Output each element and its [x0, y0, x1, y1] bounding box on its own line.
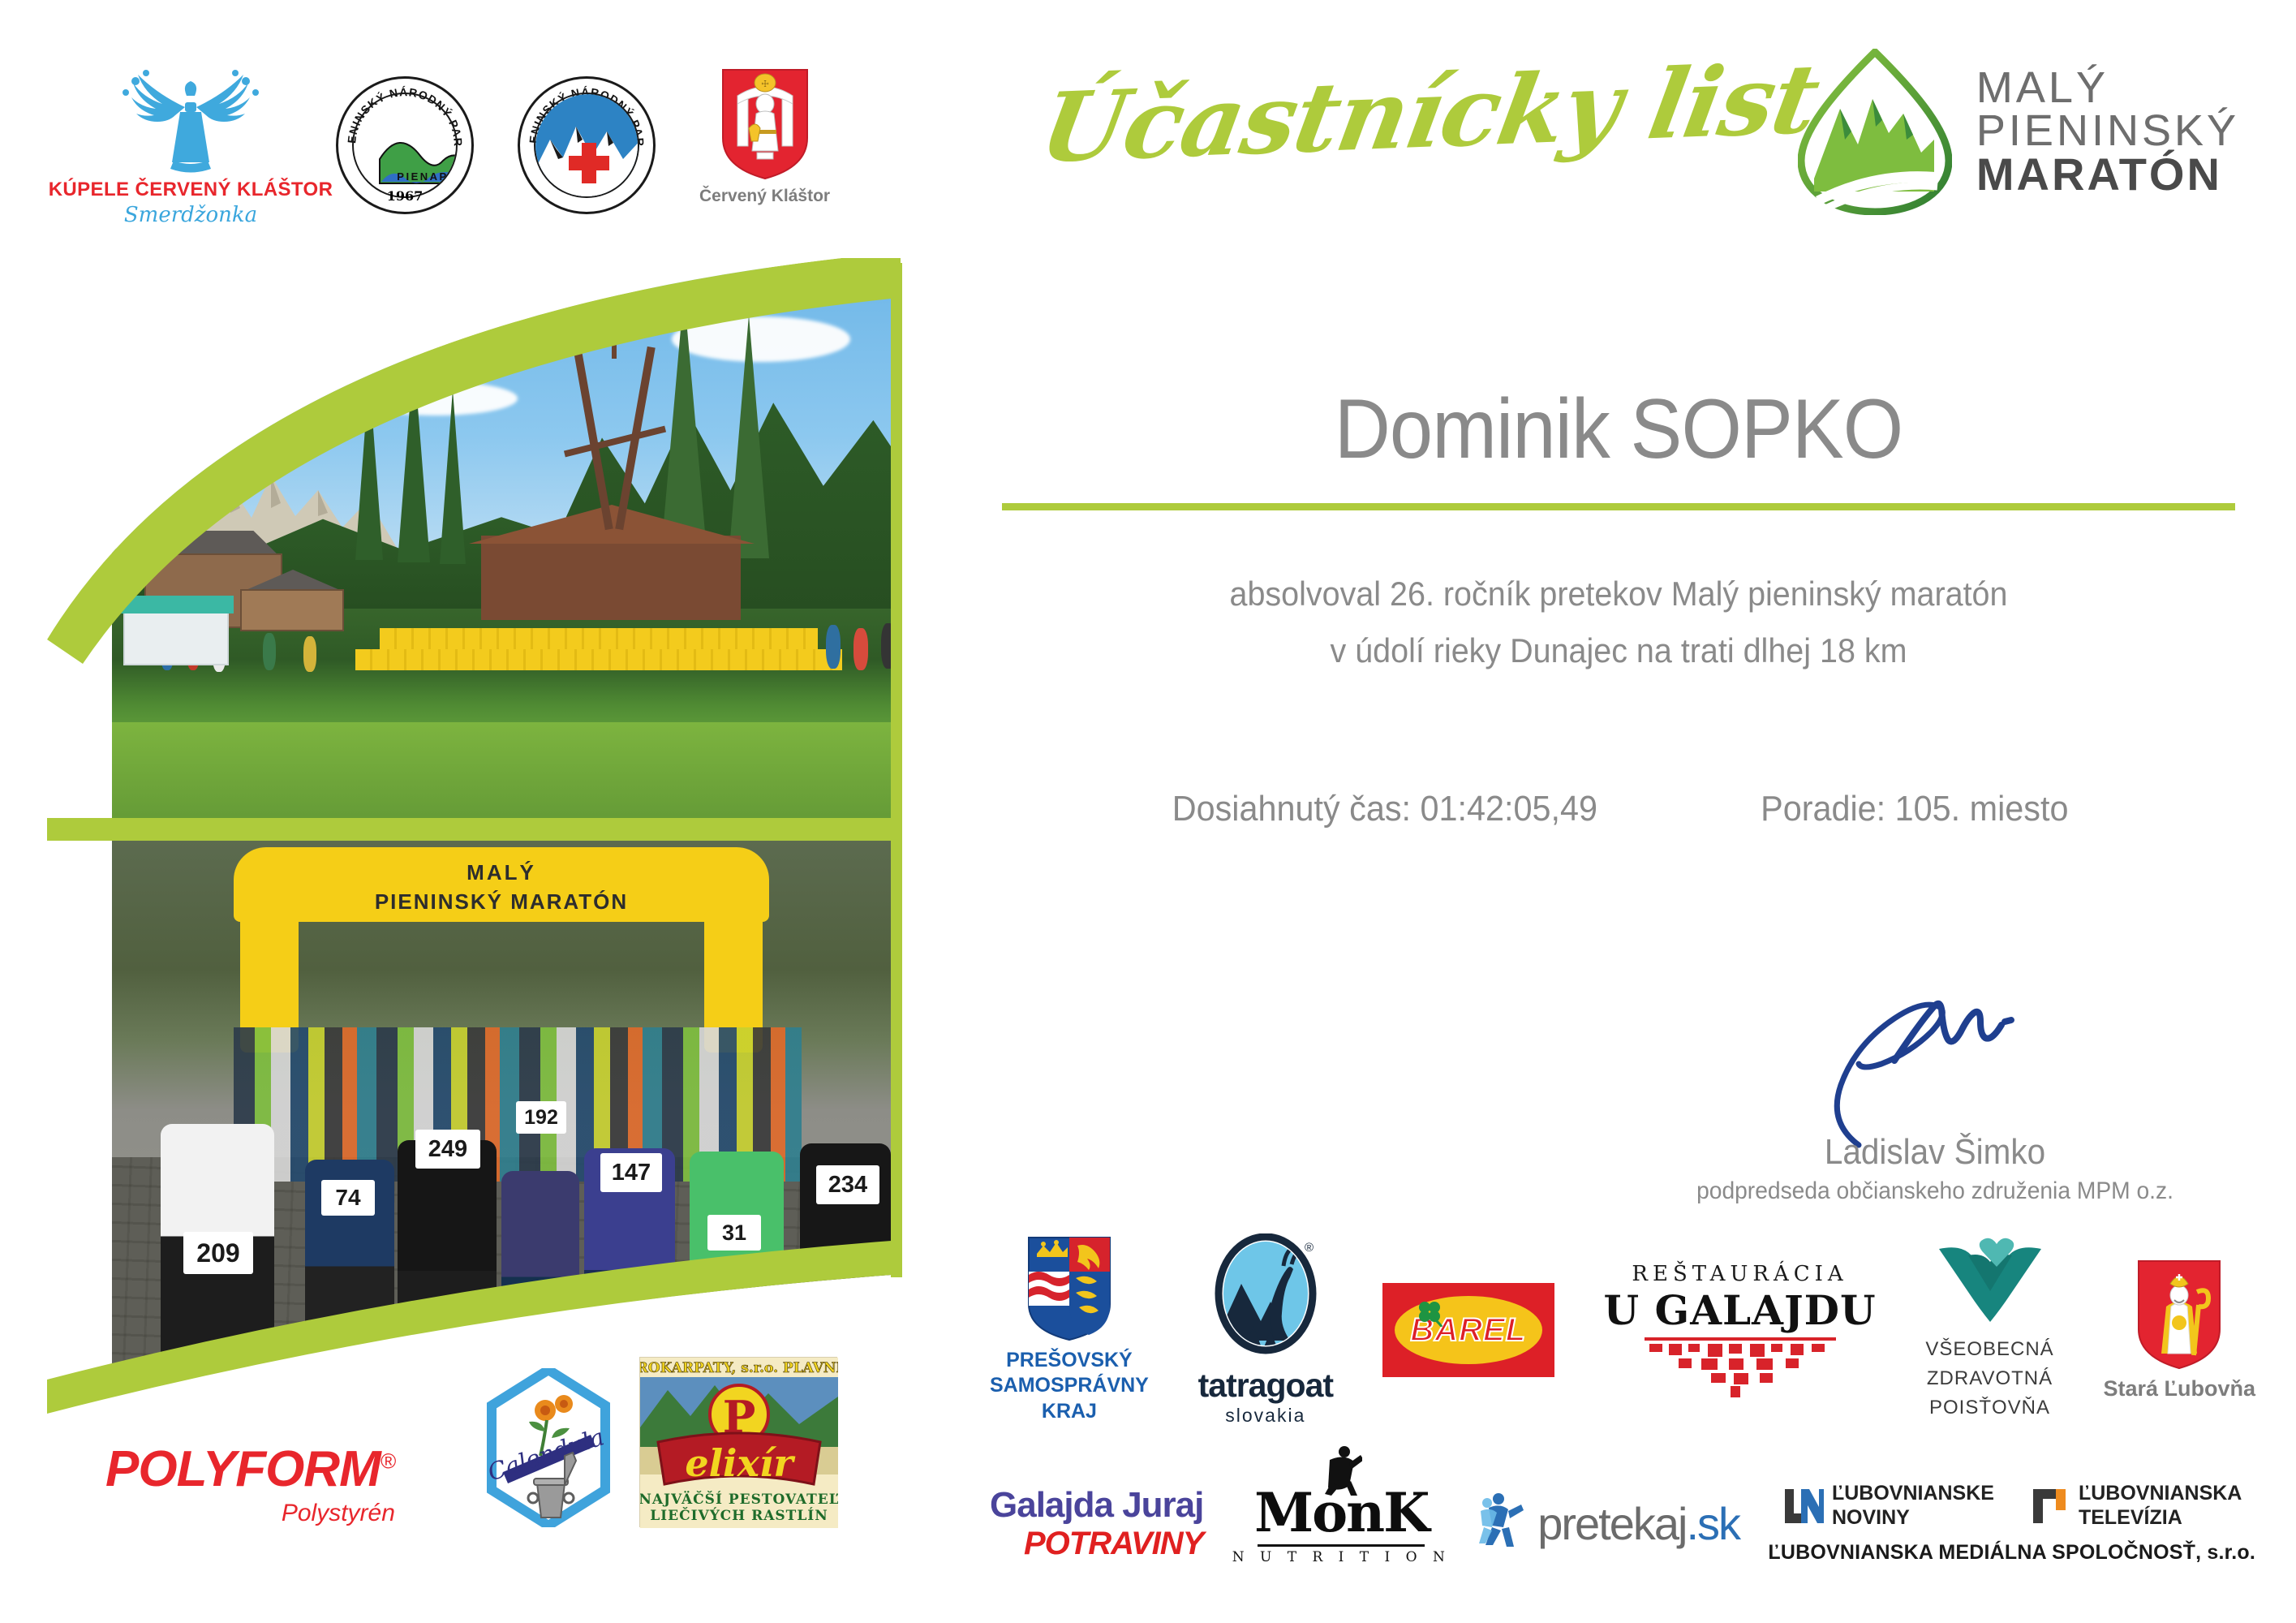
pretekaj-name: pretekaj	[1537, 1498, 1686, 1549]
lms-company-name: ĽUBOVNIANSKA MEDIÁLNA SPOLOČNOSŤ, s.r.o.	[1768, 1541, 2255, 1565]
sponsor-galajda-juraj: Galajda Juraj POTRAVINY	[990, 1485, 1203, 1562]
tatragoat-sub: slovakia	[1225, 1405, 1305, 1427]
photo-clip: MALÝ PIENINSKÝ MARATÓN 209 74 249 192 14…	[47, 258, 923, 1427]
sponsor-lubovnianska-medialna: ĽUBOVNIANSKE NOVINY ĽUBOVNIANSKA TELEVÍZ…	[1768, 1482, 2255, 1565]
galajdu-line-2: U GALAJDU	[1604, 1286, 1877, 1334]
photo-race-start: MALÝ PIENINSKÝ MARATÓN 209 74 249 192 14…	[112, 841, 923, 1427]
bib-number: 234	[816, 1165, 879, 1204]
sponsor-polyform: POLYFORM® Polystyrén	[105, 1440, 395, 1527]
horska-sluzba-inner	[534, 93, 639, 198]
agrokarpaty-elixir-icon: AGROKARPATY, s.r.o. PLAVNICA P elixír NA…	[640, 1358, 838, 1528]
bib-number: 249	[415, 1130, 480, 1169]
cerveny-klastor-name: Červený Kláštor	[699, 187, 830, 206]
runner-249	[398, 1140, 497, 1392]
lms-brands-row: ĽUBOVNIANSKE NOVINY ĽUBOVNIANSKA TELEVÍZ…	[1782, 1482, 2242, 1530]
running-monk-icon	[1320, 1445, 1362, 1496]
vszp-line-3: POISŤOVŇA	[1925, 1393, 2053, 1423]
ln-line-2: NOVINY	[1832, 1506, 1994, 1530]
mpm-wordmark: MALÝ PIENINSKÝ MARATÓN	[1976, 67, 2239, 197]
sponsor-pretekaj-sk: pretekaj.sk	[1479, 1492, 1739, 1555]
folk-ornament-icon	[1643, 1342, 1838, 1399]
runner-31	[690, 1152, 784, 1392]
sponsor-agrokarpaty-elixir: AGROKARPATY, s.r.o. PLAVNICA P elixír NA…	[639, 1357, 837, 1527]
placement: Poradie: 105. miesto	[1761, 789, 2068, 829]
pretekaj-wordmark: pretekaj.sk	[1537, 1497, 1739, 1550]
accent-rule	[1002, 503, 2235, 510]
vszp-line-2: ZDRAVOTNÁ	[1925, 1364, 2053, 1393]
kupele-line1: KÚPELE ČERVENÝ KLÁŠTOR	[49, 179, 333, 201]
horska-sluzba-seal-icon: PIENINSKÝ NÁRODNÝ PARK HORSKÁ SLUŽBA	[518, 76, 656, 214]
galajdu-divider	[1645, 1337, 1836, 1341]
signatory-role: podpredseda občianskeho združenia MPM o.…	[1653, 1177, 2217, 1205]
vszp-line-1: VŠEOBECNÁ	[1925, 1335, 2053, 1364]
stara-lubovna-name: Stará Ľubovňa	[2103, 1376, 2255, 1401]
result-stats: Dosiahnutý čas: 01:42:05,49 Poradie: 105…	[1002, 789, 2235, 829]
photo-venue-amphitheatre	[112, 268, 923, 828]
handwritten-signature-icon	[1781, 986, 2057, 1156]
page-title: Účastnícky list	[1031, 36, 1790, 193]
registered-mark-icon: ®	[381, 1449, 395, 1473]
ltv-line-2: TELEVÍZIA	[2079, 1506, 2242, 1530]
lawn	[112, 722, 923, 828]
sponsor-row-2: Galajda Juraj POTRAVINY MonK N U T R I T…	[990, 1481, 2255, 1565]
sponsor-presovsky-samospravny-kraj: PREŠOVSKÝ SAMOSPRÁVNY KRAJ	[990, 1236, 1149, 1424]
svg-text:PIENAP: PIENAP	[397, 170, 448, 183]
ln-label: ĽUBOVNIANSKE NOVINY	[1832, 1482, 1994, 1530]
partner-logo-pienap: PIENINSKÝ NÁRODNÝ PARK PIENAP 1967	[336, 76, 474, 214]
sponsor-barel: BAREL	[1382, 1283, 1554, 1377]
vszp-label: VŠEOBECNÁ ZDRAVOTNÁ POISŤOVŇA	[1925, 1335, 2053, 1423]
race-start-scene: MALÝ PIENINSKÝ MARATÓN 209 74 249 192 14…	[112, 841, 923, 1427]
presov-region-coat-of-arms-icon	[1027, 1236, 1111, 1341]
ln-line-1: ĽUBOVNIANSKE	[1832, 1482, 1994, 1506]
psk-line-3: KRAJ	[990, 1399, 1149, 1424]
pienap-seal-icon: PIENINSKÝ NÁRODNÝ PARK PIENAP 1967	[336, 76, 474, 214]
tatragoat-chamois-icon: ®	[1214, 1233, 1318, 1363]
svg-text:☩: ☩	[761, 79, 769, 89]
mountain-redcross-icon	[535, 94, 639, 198]
registered-mark-icon: ®	[1305, 1241, 1314, 1255]
monk-sub: N U T R I T I O N	[1232, 1549, 1451, 1565]
lubovnianska-televizia: ĽUBOVNIANSKA TELEVÍZIA	[2028, 1482, 2242, 1530]
psk-label: PREŠOVSKÝ SAMOSPRÁVNY KRAJ	[990, 1348, 1149, 1424]
two-runners-icon	[1479, 1492, 1529, 1555]
sponsor-vszp: VŠEOBECNÁ ZDRAVOTNÁ POISŤOVŇA	[1925, 1238, 2053, 1423]
top-partner-logos: KÚPELE ČERVENÝ KLÁŠTOR Smerdžonka PIENIN…	[89, 57, 949, 243]
ltv-line-1: ĽUBOVNIANSKA	[2079, 1482, 2242, 1506]
body-line-2: v údolí rieky Dunajec na trati dlhej 18 …	[1039, 631, 2199, 670]
arch-text-line1: MALÝ	[234, 860, 769, 885]
polyform-sub: Polystyrén	[105, 1500, 395, 1527]
sponsor-row-bottom-left: Calendula AGROKARPATY, s.r.o. PLAVNICA	[487, 1357, 837, 1527]
polyform-wordmark: POLYFORM®	[105, 1440, 395, 1498]
bib-number: 31	[707, 1215, 761, 1251]
partner-logo-kupele-cerveny-klastor: KÚPELE ČERVENÝ KLÁŠTOR Smerdžonka	[89, 57, 292, 227]
vszp-heart-chevron-icon	[1936, 1238, 2044, 1327]
partner-logo-horska-sluzba: PIENINSKÝ NÁRODNÝ PARK HORSKÁ SLUŽBA	[518, 76, 656, 214]
bib-number: 209	[183, 1232, 253, 1274]
ltv-logo-icon	[2028, 1486, 2070, 1526]
stara-lubovna-coat-of-arms-icon	[2137, 1259, 2221, 1370]
psk-line-2: SAMOSPRÁVNY	[990, 1373, 1149, 1398]
mpm-line-3: MARATÓN	[1976, 153, 2239, 197]
ln-logo-icon	[1782, 1486, 1824, 1526]
bib-number: 74	[321, 1180, 375, 1216]
pienap-inner-ring: PIENAP	[352, 93, 458, 198]
body-line-1: absolvoval 26. ročník pretekov Malý pien…	[1039, 575, 2199, 613]
galajda-line-2: POTRAVINY	[1024, 1526, 1203, 1562]
sponsor-tatragoat: ® tatragoat slovakia	[1198, 1233, 1333, 1427]
signatory-name: Ladislav Šimko	[1659, 1132, 2212, 1173]
sponsor-stara-lubovna: Stará Ľubovňa	[2103, 1259, 2255, 1401]
bib-number: 192	[516, 1101, 566, 1134]
sponsor-u-galajdu: REŠTAURÁCIA U GALAJDU	[1604, 1262, 1877, 1399]
tatragoat-name: tatragoat	[1198, 1367, 1333, 1405]
pienap-mountain-water-icon: PIENAP	[375, 131, 458, 193]
elixir-brand: elixír	[685, 1441, 796, 1485]
monk-divider	[1258, 1544, 1425, 1547]
calendula-hex-icon: Calendula	[487, 1368, 610, 1527]
partner-logo-cerveny-klastor: ☩ Červený Kláštor	[699, 68, 830, 206]
pienap-year: 1967	[338, 188, 471, 204]
mpm-line-1: MALÝ	[1976, 67, 2239, 110]
finish-time: Dosiahnutý čas: 01:42:05,49	[1172, 789, 1597, 829]
sponsor-monk-nutrition: MonK N U T R I T I O N	[1232, 1481, 1451, 1565]
ltv-label: ĽUBOVNIANSKA TELEVÍZIA	[2079, 1482, 2242, 1530]
mpm-brand-logo: MALÝ PIENINSKÝ MARATÓN	[1798, 49, 2239, 215]
sponsor-calendula: Calendula	[487, 1368, 610, 1527]
lubovnianske-noviny: ĽUBOVNIANSKE NOVINY	[1782, 1482, 1994, 1530]
sponsor-row-1: PREŠOVSKÝ SAMOSPRÁVNY KRAJ ®	[990, 1233, 2255, 1427]
clover-icon	[1416, 1299, 1443, 1327]
psk-line-1: PREŠOVSKÝ	[990, 1348, 1149, 1373]
mpm-line-2: PIENINSKÝ	[1976, 110, 2239, 153]
kupele-line2: Smerdžonka	[124, 203, 257, 227]
polyform-name: POLYFORM	[105, 1441, 381, 1497]
agro-foot2: LIEČIVÝCH RASTLÍN	[650, 1507, 828, 1524]
certificate-page: KÚPELE ČERVENÝ KLÁŠTOR Smerdžonka PIENIN…	[0, 0, 2296, 1623]
inflatable-start-arch: MALÝ PIENINSKÝ MARATÓN	[234, 847, 769, 1050]
mpm-leaf-mountain-icon	[1798, 49, 1952, 215]
bib-number: 147	[600, 1153, 662, 1192]
barel-oval: BAREL	[1395, 1296, 1542, 1364]
galajdu-line-1: REŠTAURÁCIA	[1632, 1262, 1847, 1286]
signature-block: Ladislav Šimko podpredseda občianskeho z…	[1635, 994, 2235, 1205]
agrokarpaty-top: AGROKARPATY, s.r.o. PLAVNICA	[640, 1360, 838, 1376]
pretekaj-tld: .sk	[1686, 1498, 1739, 1549]
agro-foot1: NAJVÄČŠÍ PESTOVATEĽ	[640, 1491, 838, 1508]
water-angel-icon	[89, 57, 292, 179]
galajda-line-1: Galajda Juraj	[990, 1485, 1203, 1526]
cerveny-klastor-coat-of-arms-icon: ☩	[721, 68, 809, 180]
photo-collage: MALÝ PIENINSKÝ MARATÓN 209 74 249 192 14…	[47, 258, 923, 1427]
venue-scene	[112, 268, 923, 828]
recipient-name: Dominik SOPKO	[1051, 381, 2186, 478]
arch-text-line2: PIENINSKÝ MARATÓN	[234, 889, 769, 915]
